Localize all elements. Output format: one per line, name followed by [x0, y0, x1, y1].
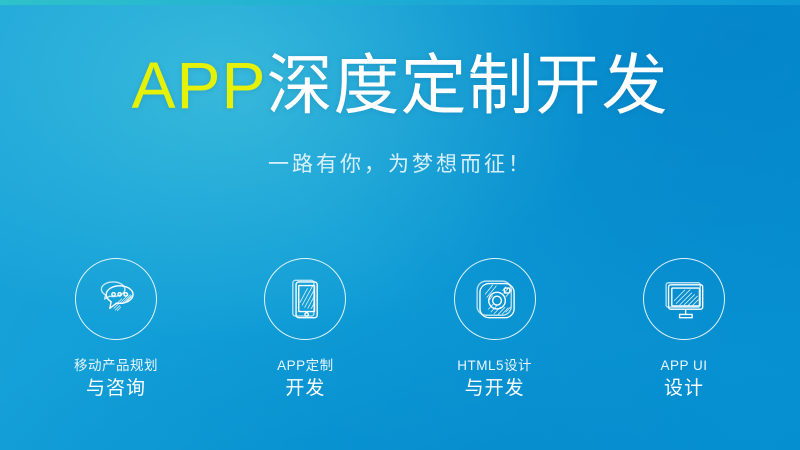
feature-label: 移动产品规划 与咨询	[74, 357, 158, 402]
page-title: APP深度定制开发	[0, 52, 800, 118]
camera-icon	[469, 273, 521, 325]
speech-bubbles-icon	[90, 273, 142, 325]
feature-item-app-development[interactable]: APP定制 开发	[219, 258, 391, 402]
feature-icon-circle	[643, 258, 725, 340]
feature-icon-circle	[75, 258, 157, 340]
feature-label: HTML5设计 与开发	[457, 357, 532, 402]
feature-label-line2: 开发	[277, 377, 334, 401]
feature-label-line1: APP UI	[660, 357, 707, 374]
page-title-highlight: APP	[131, 48, 266, 122]
feature-item-html5[interactable]: HTML5设计 与开发	[409, 258, 581, 402]
feature-icon-circle	[454, 258, 536, 340]
feature-label-line2: 与咨询	[74, 377, 158, 401]
banner-canvas: APP深度定制开发 一路有你，为梦想而征！ 移动产品规划	[0, 0, 800, 450]
feature-label: APP UI 设计	[660, 357, 707, 402]
desktop-monitor-icon	[658, 273, 710, 325]
feature-label-line1: 移动产品规划	[74, 357, 158, 374]
feature-icon-circle	[264, 258, 346, 340]
tablet-device-icon	[279, 273, 331, 325]
feature-label-line1: APP定制	[277, 357, 334, 374]
page-title-rest: 深度定制开发	[267, 48, 669, 122]
feature-item-app-ui[interactable]: APP UI 设计	[598, 258, 770, 402]
page-subtitle: 一路有你，为梦想而征！	[0, 148, 800, 178]
feature-label-line1: HTML5设计	[457, 357, 532, 374]
feature-label-line2: 设计	[660, 377, 707, 401]
feature-label: APP定制 开发	[277, 357, 334, 402]
feature-label-line2: 与开发	[457, 377, 532, 401]
feature-list: 移动产品规划 与咨询 APP定制 开发	[30, 258, 770, 402]
feature-item-consulting[interactable]: 移动产品规划 与咨询	[30, 258, 202, 402]
